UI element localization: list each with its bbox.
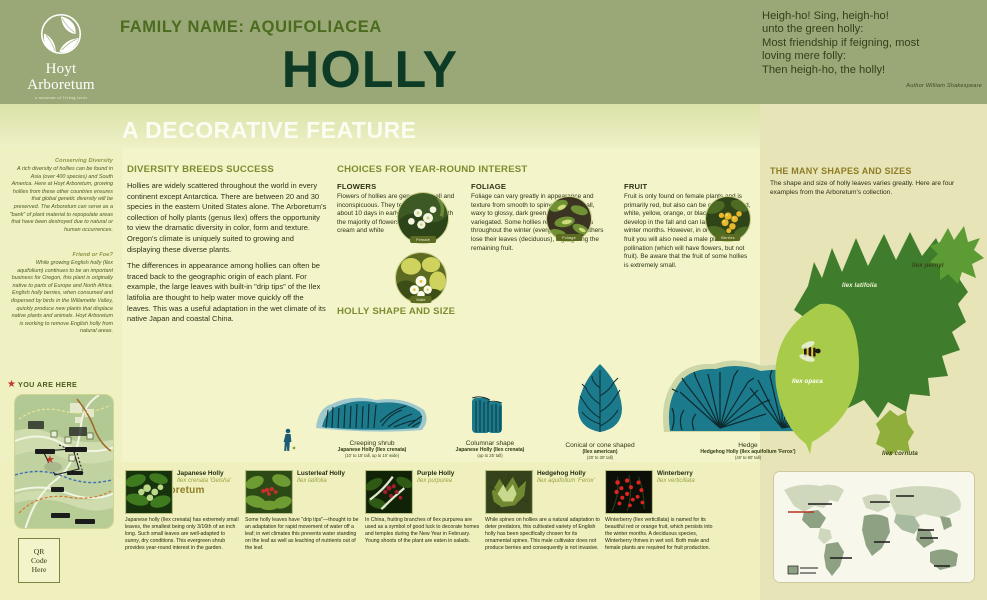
holly-card[interactable]: Purple Holly Ilex purpurea In China, fru… [365,470,481,545]
quote-author: Author William Shakespeare [762,80,982,93]
choices-heading: CHOICES FOR YEAR-ROUND INTEREST [337,164,752,175]
shapes-heading: HOLLY SHAPE AND SIZE [337,306,455,317]
card-latin-name: Ilex crenata 'Geisha' [177,478,239,485]
card-latin-name: Ilex purpurea [417,478,479,485]
interpretive-sign: Hoyt Arboretum a museum of living trees … [0,0,987,600]
you-are-here-star-icon: ★ [7,379,16,390]
shape-size: (10' to 15' tall, up to 10' wide) [312,453,432,458]
card-latin-name: Ilex verticillata [657,478,719,485]
columnar-shape-illustration [438,394,542,434]
world-map-graphic [774,472,975,583]
choices-grid: FLOWERS Flowers of hollies are generally… [337,182,752,312]
card-photo-lusterleaf-holly [245,470,293,514]
shape-item-columnar: Columnar shape Japanese Holly (Ilex cren… [438,394,542,458]
choices-label-fruit: FRUIT [624,182,752,191]
shape-item-creeping-shrub: Creeping shrub Japanese Holly (Ilex cren… [312,392,432,458]
leaf-shapes-illustration [760,200,987,460]
quote-text: Heigh-ho! Sing, heigh-ho! unto the green… [762,10,982,77]
holly-card[interactable]: Winterberry Ilex verticillata Winterberr… [605,470,721,552]
card-photo-hedgehog-holly [485,470,533,514]
qr-line-3: Here [31,565,47,574]
card-body: Japanese holly (Ilex crenata) has extrem… [125,517,241,552]
shape-name: Conical or cone shaped [544,442,656,449]
shakespeare-quote: Heigh-ho! Sing, heigh-ho! unto the green… [762,10,982,93]
conical-shape-illustration [544,362,656,436]
qr-code-placeholder[interactable]: QR Code Here [18,538,60,583]
card-latin-name: Ilex latifolia [297,478,359,485]
photo-caption-foliage: Foliage [556,234,582,241]
card-name: Lusterleaf Holly [297,470,359,478]
card-body: Winterberry (Ilex verticillata) is named… [605,517,721,552]
diversity-heading: DIVERSITY BREEDS SUCCESS [127,164,327,175]
world-distribution-map[interactable] [773,471,975,583]
sidebar-block-conserving-diversity: Conserving Diversity A rich diversity of… [9,158,113,234]
card-latin-name: Ilex aquifolium 'Ferox' [537,478,599,485]
sign-header: Hoyt Arboretum a museum of living trees … [0,0,987,104]
holly-card[interactable]: Lusterleaf Holly Ilex latifolia Some hol… [245,470,361,552]
leaf-label-ilex-opaca: Ilex opaca [792,378,823,385]
card-body: In China, fruiting branches of Ilex purp… [365,517,481,545]
sidebar-body: A rich diversity of hollies can be found… [9,166,113,234]
you-are-here-label: YOU ARE HERE [18,380,77,389]
choices-label-flowers: FLOWERS [337,182,457,191]
park-map-graphic: ★ [15,395,114,529]
diversity-section: DIVERSITY BREEDS SUCCESS Hollies are wid… [127,164,327,325]
leaf-label-ilex-cornuta: Ilex cornuta [882,450,918,457]
sidebar-body: While growing English holly (Ilex aquifo… [9,260,113,336]
holly-card[interactable]: Hedgehog Holly Ilex aquifolium 'Ferox' W… [485,470,601,552]
right-panel-intro: The shape and size of holly leaves varie… [770,179,978,197]
photo-caption-female: Female [410,236,436,243]
holly-card[interactable]: Japanese Holly Ilex crenata 'Geisha' Jap… [125,470,241,552]
photo-caption-male: Male [410,296,431,303]
qr-line-1: QR [31,547,47,556]
qr-line-2: Code [31,556,47,565]
leaf-label-ilex-latifolia: Ilex latifolia [842,282,877,289]
choices-section: CHOICES FOR YEAR-ROUND INTEREST FLOWERS … [337,164,752,312]
card-name: Hedgehog Holly [537,470,599,478]
shape-size: (up to 25' tall) [438,453,542,458]
sidebar-block-friend-or-foe: Friend or Foe? While growing English hol… [9,252,113,336]
banner-title: A DECORATIVE FEATURE [122,117,417,144]
scale-person-icon [282,428,296,452]
leaf-comparison-stage: Ilex pernyi Ilex latifolia Ilex opaca Il… [760,200,987,460]
card-photo-winterberry [605,470,653,514]
page-title: HOLLY [0,44,740,96]
shape-name: Columnar shape [438,440,542,447]
shape-item-conical: Conical or cone shaped (Ilex american) (… [544,362,656,460]
diversity-paragraph-1: Hollies are widely scattered throughout … [127,181,327,255]
choices-label-foliage: FOLIAGE [471,182,605,191]
photo-caption-berries: Berries [715,234,740,241]
card-body: Some holly leaves have "drip tips"—thoug… [245,517,361,552]
sidebar-heading: Conserving Diversity [9,158,113,164]
creeping-shrub-illustration [312,392,432,434]
diversity-paragraph-2: The differences in appearance among holl… [127,261,327,325]
card-name: Purple Holly [417,470,479,478]
holly-cards-row: Japanese Holly Ilex crenata 'Geisha' Jap… [125,470,757,590]
card-body: While spines on hollies are a natural ad… [485,517,601,552]
shape-name: Creeping shrub [312,440,432,447]
family-name-label: FAMILY NAME: AQUIFOLIACEA [120,18,382,37]
sidebar-heading: Friend or Foe? [9,252,113,258]
card-photo-purple-holly [365,470,413,514]
shape-size: (20' to 30' tall) [544,455,656,460]
card-name: Winterberry [657,470,719,478]
leaf-label-ilex-pernyi: Ilex pernyi [912,262,944,269]
card-photo-japanese-holly [125,470,173,514]
shapes-row: Creeping shrub Japanese Holly (Ilex cren… [120,330,760,460]
svg-text:★: ★ [45,453,55,466]
card-name: Japanese Holly [177,470,239,478]
right-panel-heading: THE MANY SHAPES AND SIZES [770,166,912,176]
park-map[interactable]: ★ [14,394,114,529]
